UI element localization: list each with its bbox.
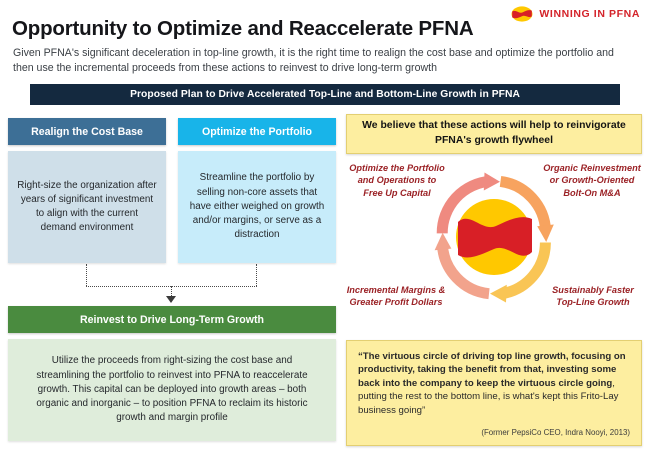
card-optimize-body: Streamline the portfolio by selling non-…: [178, 151, 336, 263]
flywheel-label-bottom-right: Sustainably Faster Top-Line Growth: [544, 284, 642, 309]
flywheel-label-bottom-left: Incremental Margins & Greater Profit Dol…: [346, 284, 446, 309]
flywheel-label-top-left: Optimize the Portfolio and Operations to…: [348, 162, 446, 199]
slide-root: WINNING IN PFNA Opportunity to Optimize …: [0, 0, 650, 456]
card-optimize-portfolio: Optimize the Portfolio Streamline the po…: [178, 118, 336, 263]
section-banner: Proposed Plan to Drive Accelerated Top-L…: [30, 84, 620, 105]
pepsico-globe-icon: [511, 6, 533, 22]
quote-bold-text: “The virtuous circle of driving top line…: [358, 351, 626, 389]
card-reinvest-body: Utilize the proceeds from right-sizing t…: [8, 339, 336, 441]
card-realign-cost-base: Realign the Cost Base Right-size the org…: [8, 118, 166, 263]
page-title: Opportunity to Optimize and Reaccelerate…: [12, 17, 473, 41]
connector-line-left: [86, 264, 87, 286]
card-realign-body: Right-size the organization after years …: [8, 151, 166, 263]
card-realign-heading: Realign the Cost Base: [8, 118, 166, 145]
connector-arrow-down-icon: [166, 296, 176, 303]
quote-attribution: (Former PepsiCo CEO, Indra Nooyi, 2013): [481, 426, 630, 439]
card-optimize-heading: Optimize the Portfolio: [178, 118, 336, 145]
brand-lockup: WINNING IN PFNA: [511, 6, 640, 22]
card-reinvest-heading: Reinvest to Drive Long-Term Growth: [8, 306, 336, 333]
pepsico-globe-icon: [456, 199, 532, 275]
connector-line-right: [256, 264, 257, 286]
flywheel-callout: We believe that these actions will help …: [346, 114, 642, 154]
growth-flywheel-diagram: Optimize the Portfolio and Operations to…: [346, 156, 642, 338]
page-subtitle: Given PFNA's significant deceleration in…: [13, 46, 637, 76]
quote-box: “The virtuous circle of driving top line…: [346, 340, 642, 446]
brand-label: WINNING IN PFNA: [539, 8, 640, 20]
card-reinvest-growth: Reinvest to Drive Long-Term Growth Utili…: [8, 306, 336, 441]
flywheel-label-top-right: Organic Reinvestment or Growth-Oriented …: [542, 162, 642, 199]
